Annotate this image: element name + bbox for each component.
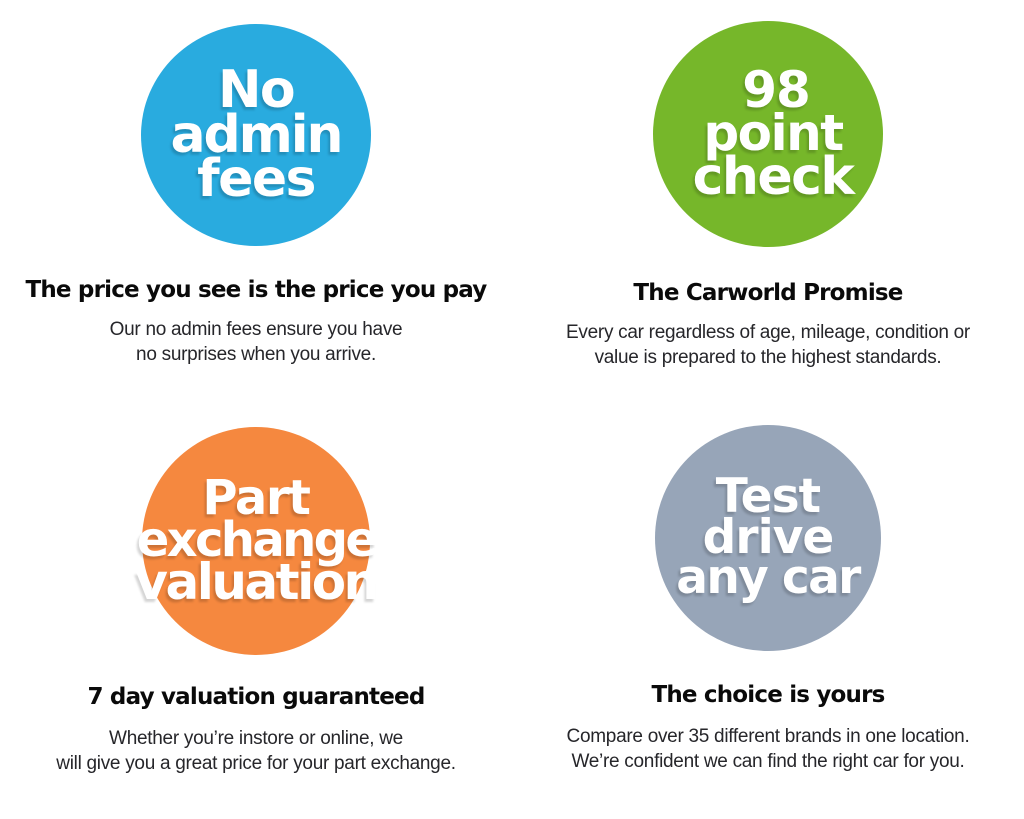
card-body: Whether you’re instore or online, we wil…	[6, 726, 506, 776]
badge-line-3: any car	[676, 558, 859, 598]
card-body: Compare over 35 different brands in one …	[518, 724, 1018, 774]
badge-line-3: valuation	[135, 561, 376, 604]
badge-text-block: No admin fees	[141, 68, 371, 202]
card-heading: 7 day valuation guaranteed	[6, 685, 506, 710]
card-text-block: 7 day valuation guaranteed Whether you’r…	[0, 655, 512, 776]
card-body: Our no admin fees ensure you have no sur…	[6, 317, 506, 367]
card-heading: The Carworld Promise	[518, 281, 1018, 306]
card-text-block: The price you see is the price you pay O…	[0, 246, 512, 367]
badge-circle-part-exchange-valuation: Part exchange valuation	[142, 427, 370, 655]
card-text-block: The Carworld Promise Every car regardles…	[512, 247, 1024, 370]
badge-line-3: fees	[197, 157, 315, 202]
badge-circle-98-point-check: 98 point check	[653, 21, 883, 247]
badge-circle-test-drive-any-car: Test drive any car	[655, 425, 881, 651]
card-text-block: The choice is yours Compare over 35 diff…	[512, 651, 1024, 774]
card-body: Every car regardless of age, mileage, co…	[518, 320, 1018, 370]
badge-text-block: Part exchange valuation	[142, 478, 370, 604]
badge-circle-no-admin-fees: No admin fees	[141, 24, 371, 246]
promise-card-no-admin-fees: No admin fees The price you see is the p…	[0, 0, 512, 410]
badge-text-block: Test drive any car	[655, 477, 881, 598]
card-heading: The choice is yours	[518, 683, 1018, 708]
promise-card-part-exchange-valuation: Part exchange valuation 7 day valuation …	[0, 410, 512, 819]
promise-card-test-drive-any-car: Test drive any car The choice is yours C…	[512, 410, 1024, 819]
promise-grid: No admin fees The price you see is the p…	[0, 0, 1024, 819]
promise-card-98-point-check: 98 point check The Carworld Promise Ever…	[512, 0, 1024, 410]
badge-text-block: 98 point check	[653, 69, 883, 200]
badge-line-3: check	[693, 155, 854, 200]
card-heading: The price you see is the price you pay	[6, 278, 506, 303]
